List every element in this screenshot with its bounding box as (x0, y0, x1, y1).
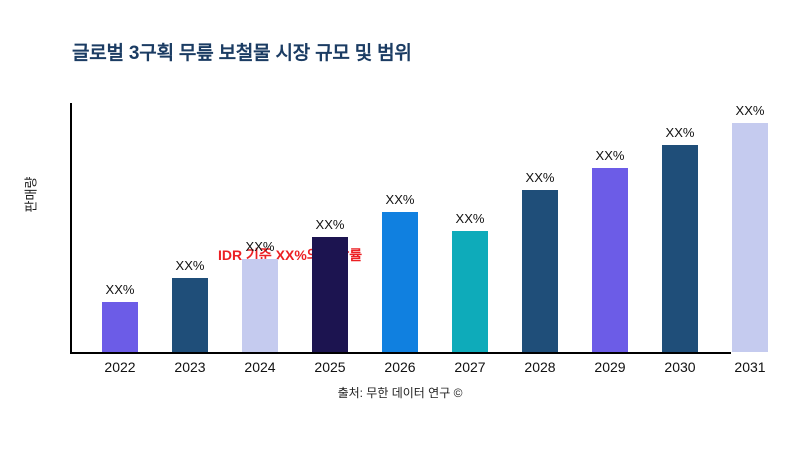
bar-rect-2029[interactable] (592, 168, 628, 352)
x-tick-2030: 2030 (650, 359, 710, 375)
bar-2022[interactable]: XX% (102, 302, 138, 352)
bar-2024[interactable]: XX% (242, 259, 278, 352)
bar-2029[interactable]: XX% (592, 168, 628, 352)
bar-rect-2027[interactable] (452, 231, 488, 352)
bar-value-label-2026: XX% (386, 192, 415, 207)
source-note: 출처: 무한 데이터 연구 © (0, 384, 800, 401)
x-tick-2024: 2024 (230, 359, 290, 375)
bar-value-label-2030: XX% (666, 125, 695, 140)
bar-value-label-2025: XX% (316, 217, 345, 232)
bar-rect-2023[interactable] (172, 278, 208, 352)
x-tick-2025: 2025 (300, 359, 360, 375)
bar-rect-2026[interactable] (382, 212, 418, 352)
chart-canvas: 글로벌 3구획 무릎 보철물 시장 규모 및 범위 판매량 IDR 기준 XX%… (0, 0, 800, 450)
x-tick-2022: 2022 (90, 359, 150, 375)
bar-rect-2030[interactable] (662, 145, 698, 352)
bar-value-label-2024: XX% (246, 239, 275, 254)
plot-area: IDR 기준 XX%의 성장률 XX%XX%XX%XX%XX%XX%XX%XX%… (70, 103, 730, 352)
bar-value-label-2031: XX% (736, 103, 765, 118)
bar-value-label-2027: XX% (456, 211, 485, 226)
bar-2028[interactable]: XX% (522, 190, 558, 352)
bar-2023[interactable]: XX% (172, 278, 208, 352)
x-tick-2026: 2026 (370, 359, 430, 375)
x-tick-2028: 2028 (510, 359, 570, 375)
x-tick-2029: 2029 (580, 359, 640, 375)
bar-value-label-2028: XX% (526, 170, 555, 185)
bar-2026[interactable]: XX% (382, 212, 418, 352)
x-tick-2023: 2023 (160, 359, 220, 375)
x-tick-2031: 2031 (720, 359, 780, 375)
bar-2025[interactable]: XX% (312, 237, 348, 352)
bar-rect-2024[interactable] (242, 259, 278, 352)
chart-title: 글로벌 3구획 무릎 보철물 시장 규모 및 범위 (72, 38, 412, 65)
bar-value-label-2029: XX% (596, 148, 625, 163)
bar-value-label-2023: XX% (176, 258, 205, 273)
bar-2027[interactable]: XX% (452, 231, 488, 352)
x-axis-line (70, 352, 731, 354)
bar-rect-2022[interactable] (102, 302, 138, 352)
bar-value-label-2022: XX% (106, 282, 135, 297)
y-axis-label: 판매량 (21, 135, 40, 255)
bar-rect-2028[interactable] (522, 190, 558, 352)
bar-2030[interactable]: XX% (662, 145, 698, 352)
y-axis-line (70, 103, 72, 352)
bar-rect-2025[interactable] (312, 237, 348, 352)
x-tick-2027: 2027 (440, 359, 500, 375)
bar-2031[interactable]: XX% (732, 123, 768, 352)
bar-rect-2031[interactable] (732, 123, 768, 352)
